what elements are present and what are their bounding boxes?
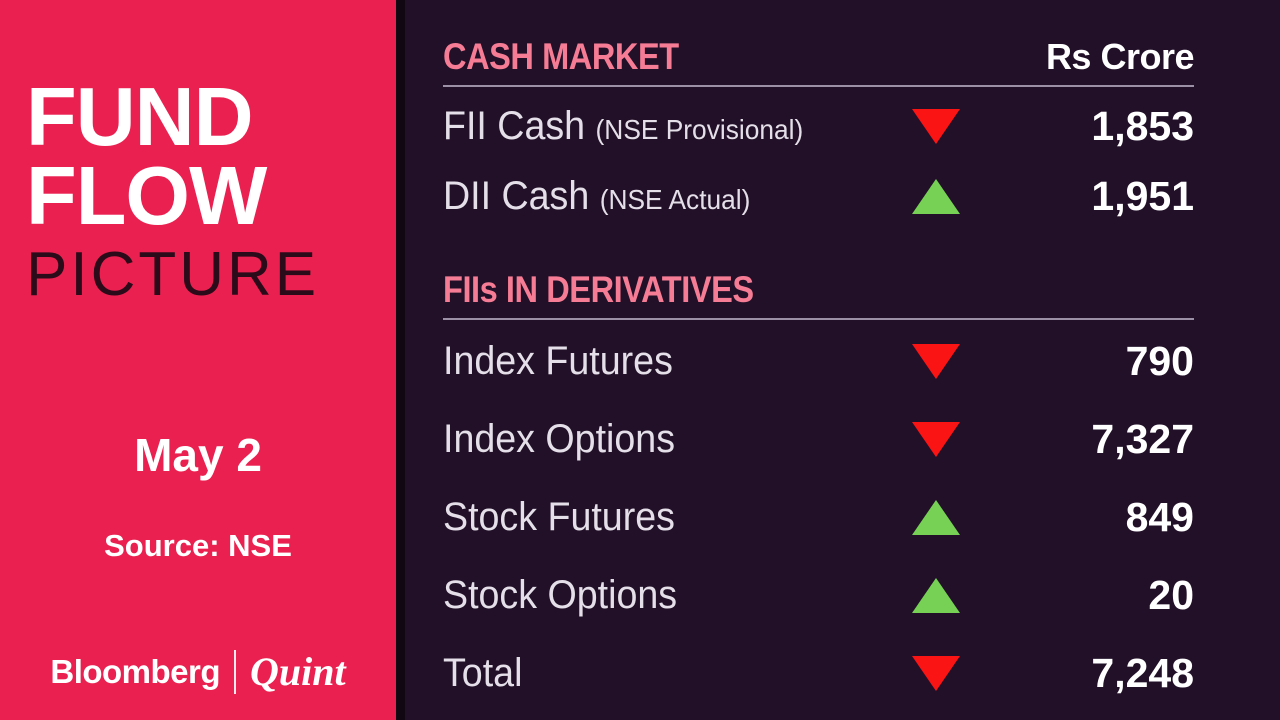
logo-bloomberg-text: Bloomberg bbox=[50, 653, 220, 691]
branding-panel: FUND FLOW PICTURE May 2 Source: NSE Bloo… bbox=[0, 0, 396, 720]
row-label: Index Options bbox=[443, 417, 852, 462]
cash-market-rows: FII Cash (NSE Provisional) 1,853 DII Cas… bbox=[443, 91, 1194, 231]
table-row: Stock Options 20 bbox=[443, 556, 1194, 634]
source-label: Source: NSE bbox=[0, 528, 396, 564]
direction-cell bbox=[878, 422, 994, 457]
cash-market-title: CASH MARKET bbox=[443, 36, 679, 78]
row-value: 7,327 bbox=[994, 416, 1194, 463]
section-cash-market: CASH MARKET Rs Crore FII Cash (NSE Provi… bbox=[443, 0, 1194, 231]
row-label: Total bbox=[443, 651, 852, 696]
row-label-main: FII Cash bbox=[443, 104, 585, 148]
brand-line-picture: PICTURE bbox=[26, 244, 376, 306]
logo-divider bbox=[234, 650, 236, 694]
row-label-qualifier: (NSE Provisional) bbox=[596, 114, 804, 145]
cash-market-header: CASH MARKET Rs Crore bbox=[443, 36, 1194, 78]
direction-cell bbox=[878, 344, 994, 379]
unit-label-rs-crore: Rs Crore bbox=[1046, 36, 1194, 78]
table-row: Index Futures 790 bbox=[443, 322, 1194, 400]
brand-line-fund: FUND bbox=[26, 78, 376, 157]
triangle-down-icon bbox=[912, 656, 960, 691]
table-row: Index Options 7,327 bbox=[443, 400, 1194, 478]
derivatives-header: FIIs IN DERIVATIVES bbox=[443, 269, 1194, 311]
triangle-down-icon bbox=[912, 422, 960, 457]
publisher-logo: Bloomberg Quint bbox=[0, 648, 396, 695]
derivatives-rule bbox=[443, 318, 1194, 320]
row-label: DII Cash (NSE Actual) bbox=[443, 174, 852, 219]
row-value: 849 bbox=[994, 494, 1194, 541]
triangle-down-icon bbox=[912, 109, 960, 144]
row-label: Stock Futures bbox=[443, 495, 852, 540]
row-value: 20 bbox=[994, 572, 1194, 619]
brand-line-flow: FLOW bbox=[26, 157, 376, 236]
row-label-main: DII Cash bbox=[443, 174, 589, 218]
triangle-up-icon bbox=[912, 578, 960, 613]
panel-divider-strip bbox=[396, 0, 405, 720]
table-row: FII Cash (NSE Provisional) 1,853 bbox=[443, 91, 1194, 161]
direction-cell bbox=[878, 656, 994, 691]
section-fiis-in-derivatives: FIIs IN DERIVATIVES Index Futures 790 In… bbox=[443, 269, 1194, 712]
title-block: FUND FLOW PICTURE bbox=[26, 78, 376, 306]
data-panel: CASH MARKET Rs Crore FII Cash (NSE Provi… bbox=[405, 0, 1280, 720]
triangle-up-icon bbox=[912, 179, 960, 214]
table-row: Stock Futures 849 bbox=[443, 478, 1194, 556]
row-label: Index Futures bbox=[443, 339, 852, 384]
table-row: Total 7,248 bbox=[443, 634, 1194, 712]
fund-flow-infographic: FUND FLOW PICTURE May 2 Source: NSE Bloo… bbox=[0, 0, 1280, 720]
row-label: Stock Options bbox=[443, 573, 852, 618]
row-label-qualifier: (NSE Actual) bbox=[600, 184, 751, 215]
row-value: 7,248 bbox=[994, 650, 1194, 697]
direction-cell bbox=[878, 500, 994, 535]
derivatives-title: FIIs IN DERIVATIVES bbox=[443, 269, 754, 311]
triangle-down-icon bbox=[912, 344, 960, 379]
direction-cell bbox=[878, 109, 994, 144]
table-row: DII Cash (NSE Actual) 1,951 bbox=[443, 161, 1194, 231]
triangle-up-icon bbox=[912, 500, 960, 535]
direction-cell bbox=[878, 578, 994, 613]
cash-market-rule bbox=[443, 85, 1194, 87]
row-label: FII Cash (NSE Provisional) bbox=[443, 104, 852, 149]
row-value: 1,853 bbox=[994, 103, 1194, 150]
direction-cell bbox=[878, 179, 994, 214]
derivatives-rows: Index Futures 790 Index Options 7,327 St… bbox=[443, 322, 1194, 712]
date-label: May 2 bbox=[0, 428, 396, 482]
row-value: 1,951 bbox=[994, 173, 1194, 220]
logo-quint-text: Quint bbox=[250, 648, 346, 695]
row-value: 790 bbox=[994, 338, 1194, 385]
